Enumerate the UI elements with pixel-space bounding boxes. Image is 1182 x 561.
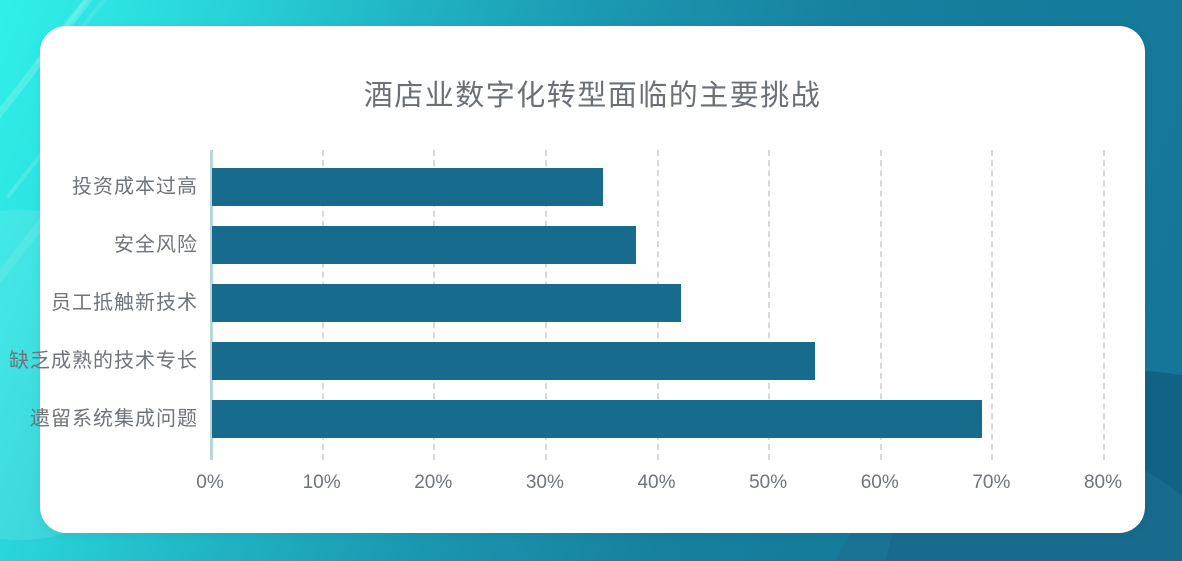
chart-title: 酒店业数字化转型面临的主要挑战 [40,72,1145,114]
x-tick-label: 0% [196,472,223,494]
bar[interactable] [212,342,815,380]
bar-chart-plot-area: 投资成本过高安全风险员工抵触新技术缺乏成熟的技术专长遗留系统集成问题 0%10%… [210,150,1103,460]
y-category-label: 遗留系统集成问题 [30,400,198,438]
bar[interactable] [212,400,982,438]
x-tick-label: 60% [861,472,899,494]
gridline [991,150,993,460]
y-category-label: 员工抵触新技术 [51,284,198,322]
x-tick-label: 50% [749,472,787,494]
x-tick-label: 80% [1084,472,1122,494]
x-tick-label: 10% [303,472,341,494]
chart-card: 酒店业数字化转型面临的主要挑战 投资成本过高安全风险员工抵触新技术缺乏成熟的技术… [40,26,1145,533]
x-tick-label: 20% [414,472,452,494]
x-tick-label: 40% [637,472,675,494]
x-tick-label: 70% [972,472,1010,494]
slide-canvas: 酒店业数字化转型面临的主要挑战 投资成本过高安全风险员工抵触新技术缺乏成熟的技术… [0,0,1182,561]
bar[interactable] [212,284,681,322]
gridline [1103,150,1105,460]
bar[interactable] [212,226,636,264]
x-tick-label: 30% [526,472,564,494]
y-category-label: 投资成本过高 [72,168,198,206]
bar[interactable] [212,168,603,206]
y-category-label: 缺乏成熟的技术专长 [9,342,198,380]
y-category-label: 安全风险 [114,226,198,264]
